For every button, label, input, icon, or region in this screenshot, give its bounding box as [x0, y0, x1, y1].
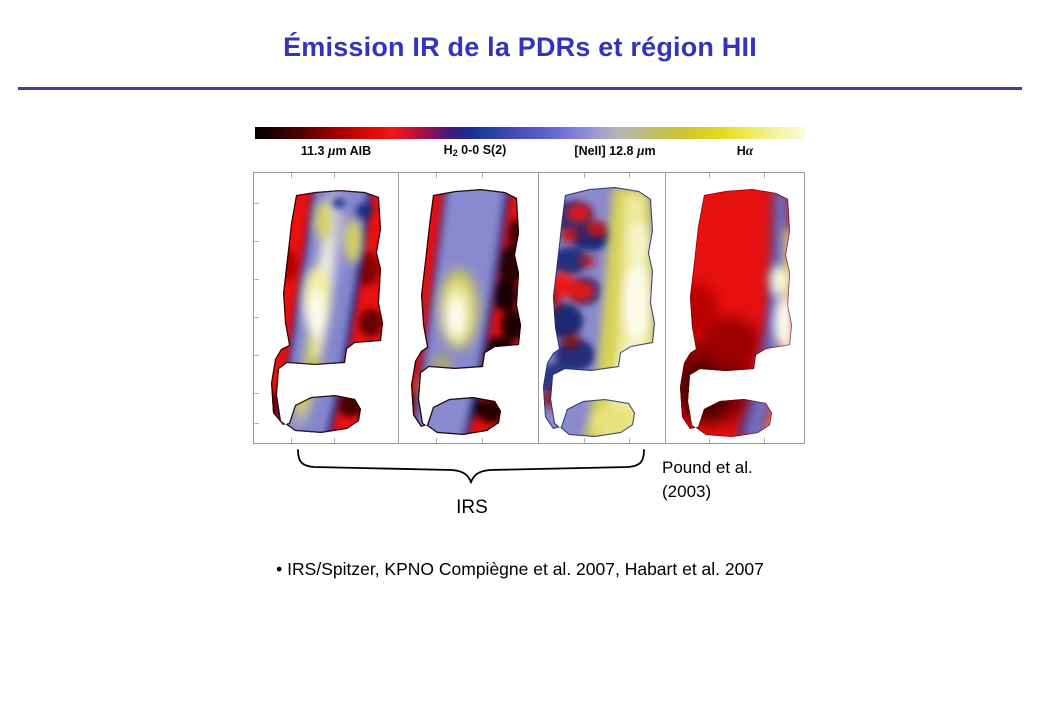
irs-brace	[292, 448, 652, 484]
reference-bullet: • IRS/Spitzer, KPNO Compiègne et al. 200…	[0, 559, 1040, 580]
pound-credit: Pound et al. (2003)	[662, 456, 753, 504]
panel-h2	[399, 173, 538, 443]
panel-label-h2: H2 0-0 S(2)	[405, 143, 545, 158]
brace-icon	[292, 448, 652, 484]
panel-label-halpha: Hα	[685, 143, 805, 159]
panel-aib-image	[255, 173, 398, 443]
panel-halpha	[666, 173, 804, 443]
panel-h2-image	[399, 173, 538, 443]
panel-label-neii: [NeII] 12.8 μm	[535, 143, 695, 159]
title-divider	[18, 87, 1022, 90]
panel-aib	[255, 173, 398, 443]
irs-label: IRS	[292, 497, 652, 519]
panel-halpha-image	[666, 173, 804, 443]
intensity-colorbar	[255, 127, 805, 139]
panel-neii-image	[539, 173, 665, 443]
page-title: Émission IR de la PDRs et région HII	[0, 32, 1040, 63]
panel-neii	[539, 173, 665, 443]
image-panel-frame	[253, 172, 805, 444]
panel-label-aib: 11.3 μm AIB	[261, 143, 411, 159]
